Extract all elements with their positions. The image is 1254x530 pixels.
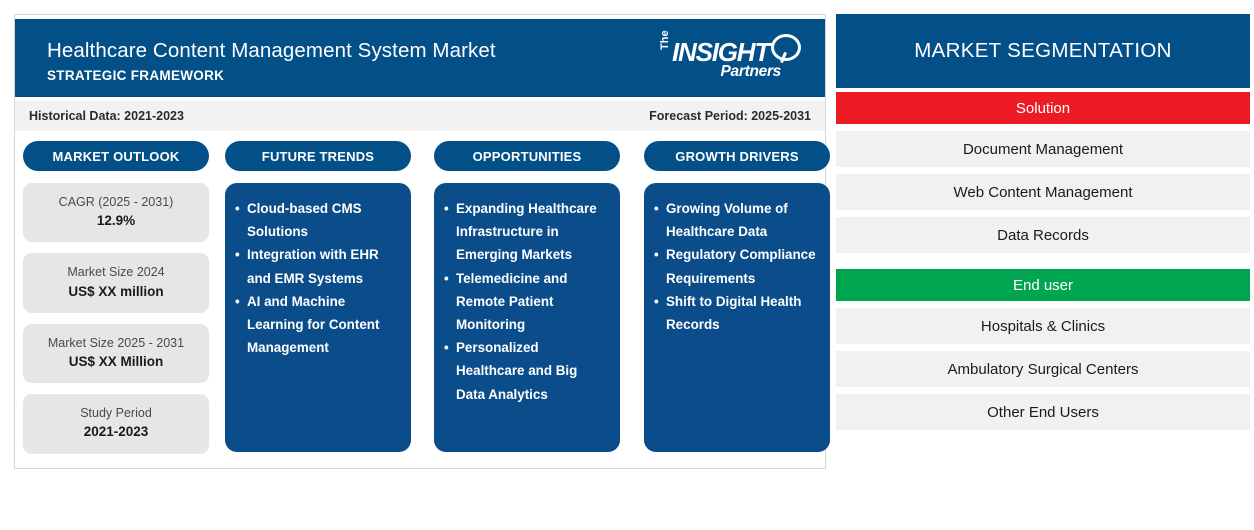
list-item: Regulatory Compliance Requirements: [654, 243, 818, 289]
logo-partners-text: Partners: [721, 63, 782, 81]
logo-the-text: The: [659, 30, 671, 50]
column-market-outlook: MARKET OUTLOOK CAGR (2025 - 2031) 12.9% …: [23, 141, 209, 465]
forecast-period-label: Forecast Period: 2025-2031: [649, 109, 811, 123]
segment-item-ambulatory-surgical-centers: Ambulatory Surgical Centers: [836, 351, 1250, 387]
strategic-framework-panel: Healthcare Content Management System Mar…: [14, 14, 826, 469]
framework-columns: MARKET OUTLOOK CAGR (2025 - 2031) 12.9% …: [15, 141, 825, 471]
growth-drivers-list: Growing Volume of Healthcare Data Regula…: [654, 197, 818, 336]
column-growth-drivers: GROWTH DRIVERS Growing Volume of Healthc…: [644, 141, 830, 452]
stat-label: Study Period: [29, 404, 203, 422]
opportunities-list: Expanding Healthcare Infrastructure in E…: [444, 197, 608, 406]
column-heading-opportunities: OPPORTUNITIES: [434, 141, 620, 171]
opportunities-card: Expanding Healthcare Infrastructure in E…: [434, 183, 620, 452]
list-item: Growing Volume of Healthcare Data: [654, 197, 818, 243]
speech-bubble-icon: [771, 34, 801, 61]
list-item: Telemedicine and Remote Patient Monitori…: [444, 267, 608, 337]
period-bar: Historical Data: 2021-2023 Forecast Peri…: [15, 101, 825, 131]
list-item: Expanding Healthcare Infrastructure in E…: [444, 197, 608, 267]
report-header: Healthcare Content Management System Mar…: [15, 19, 825, 97]
future-trends-card: Cloud-based CMS Solutions Integration wi…: [225, 183, 411, 452]
stat-cagr: CAGR (2025 - 2031) 12.9%: [23, 183, 209, 242]
column-future-trends: FUTURE TRENDS Cloud-based CMS Solutions …: [225, 141, 411, 452]
historical-data-label: Historical Data: 2021-2023: [29, 109, 184, 123]
list-item: Shift to Digital Health Records: [654, 290, 818, 336]
column-heading-market-outlook: MARKET OUTLOOK: [23, 141, 209, 171]
stat-value: 2021-2023: [29, 422, 203, 442]
segment-category-solution: Solution: [836, 92, 1250, 124]
list-item: Integration with EHR and EMR Systems: [235, 243, 399, 289]
segmentation-title: MARKET SEGMENTATION: [836, 14, 1250, 88]
insight-partners-logo: The INSIGHT Partners: [658, 33, 803, 85]
stat-market-size-forecast: Market Size 2025 - 2031 US$ XX Million: [23, 324, 209, 383]
column-heading-growth-drivers: GROWTH DRIVERS: [644, 141, 830, 171]
segment-category-end-user: End user: [836, 269, 1250, 301]
stat-study-period: Study Period 2021-2023: [23, 394, 209, 453]
list-item: Cloud-based CMS Solutions: [235, 197, 399, 243]
segment-item-web-content-management: Web Content Management: [836, 174, 1250, 210]
column-heading-future-trends: FUTURE TRENDS: [225, 141, 411, 171]
column-opportunities: OPPORTUNITIES Expanding Healthcare Infra…: [434, 141, 620, 452]
growth-drivers-card: Growing Volume of Healthcare Data Regula…: [644, 183, 830, 452]
stat-label: CAGR (2025 - 2031): [29, 193, 203, 211]
segment-group-divider: [836, 253, 1250, 265]
future-trends-list: Cloud-based CMS Solutions Integration wi…: [235, 197, 399, 359]
segment-item-other-end-users: Other End Users: [836, 394, 1250, 430]
segment-item-hospitals-clinics: Hospitals & Clinics: [836, 308, 1250, 344]
stat-market-size-2024: Market Size 2024 US$ XX million: [23, 253, 209, 312]
segment-item-data-records: Data Records: [836, 217, 1250, 253]
infographic-page: Healthcare Content Management System Mar…: [0, 0, 1254, 530]
list-item: Personalized Healthcare and Big Data Ana…: [444, 336, 608, 406]
market-segmentation-panel: MARKET SEGMENTATION Solution Document Ma…: [836, 14, 1250, 469]
page-title: Healthcare Content Management System Mar…: [47, 39, 496, 63]
market-outlook-stats: CAGR (2025 - 2031) 12.9% Market Size 202…: [23, 183, 209, 454]
segment-item-document-management: Document Management: [836, 131, 1250, 167]
stat-value: US$ XX million: [29, 282, 203, 302]
page-subtitle: STRATEGIC FRAMEWORK: [47, 68, 224, 83]
stat-value: US$ XX Million: [29, 352, 203, 372]
stat-label: Market Size 2024: [29, 263, 203, 281]
stat-label: Market Size 2025 - 2031: [29, 334, 203, 352]
list-item: AI and Machine Learning for Content Mana…: [235, 290, 399, 360]
logo-insight-text: INSIGHT: [672, 39, 769, 65]
stat-value: 12.9%: [29, 211, 203, 231]
